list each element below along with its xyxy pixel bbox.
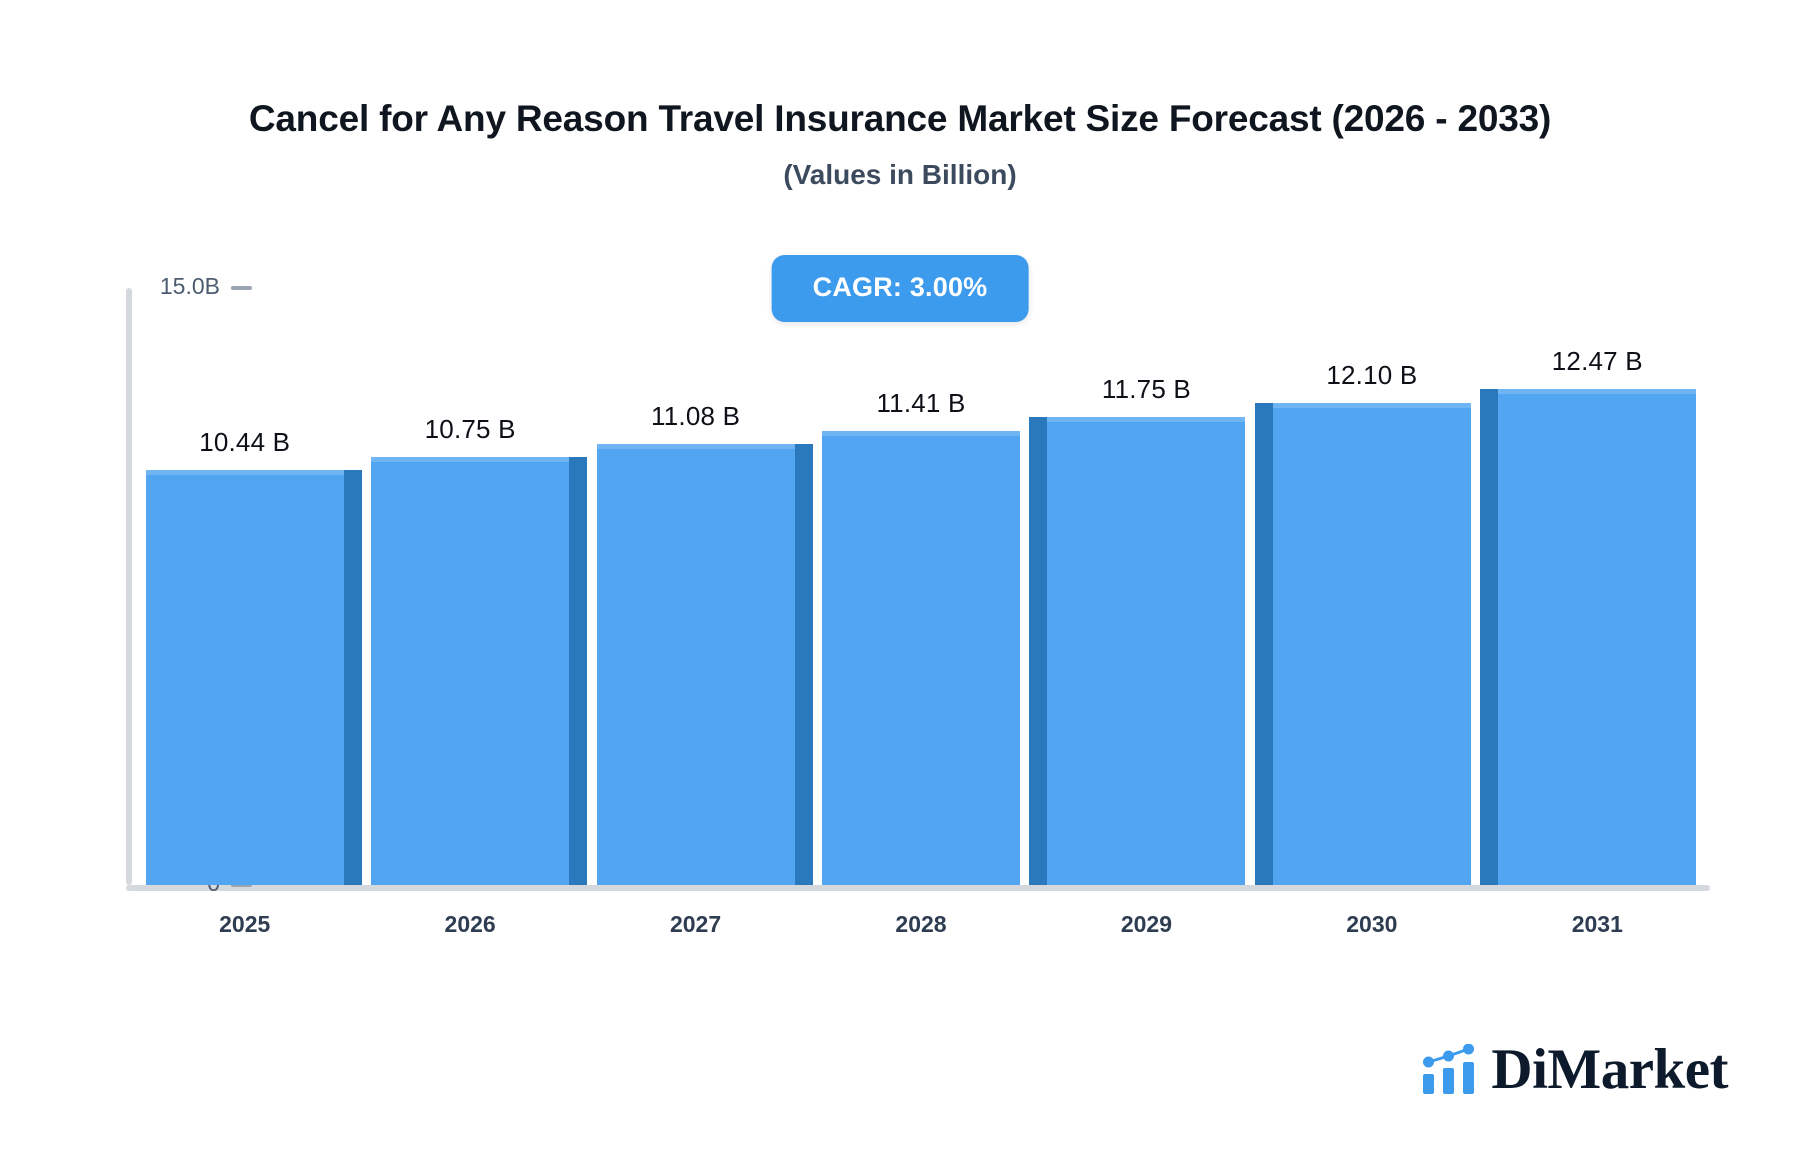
bar-value-label: 11.75 B bbox=[1102, 374, 1191, 405]
bar-value-label: 12.10 B bbox=[1326, 360, 1417, 391]
bar-side-face bbox=[569, 457, 587, 885]
bar[interactable]: 12.47 B bbox=[1498, 389, 1696, 885]
bar-face bbox=[597, 444, 795, 885]
x-axis-tick-label: 2030 bbox=[1346, 911, 1397, 938]
bar-face bbox=[1273, 403, 1471, 885]
brand-name: DiMarket bbox=[1491, 1041, 1728, 1098]
x-axis-tick-label: 2027 bbox=[670, 911, 721, 938]
bar-top-highlight bbox=[597, 444, 795, 449]
bar-group: 11.41 B2028 bbox=[822, 288, 1020, 885]
brand-logo: DiMarket bbox=[1421, 1041, 1728, 1098]
bar-group: 10.75 B2026 bbox=[371, 288, 569, 885]
bar-face bbox=[822, 431, 1020, 885]
bar-face bbox=[371, 457, 569, 885]
chart-header: Cancel for Any Reason Travel Insurance M… bbox=[0, 98, 1800, 191]
bar-face bbox=[1498, 389, 1696, 885]
chart-canvas: Cancel for Any Reason Travel Insurance M… bbox=[0, 0, 1800, 1156]
x-axis-tick-label: 2028 bbox=[895, 911, 946, 938]
bar[interactable]: 10.75 B bbox=[371, 457, 569, 885]
bar-side-face bbox=[1480, 389, 1498, 885]
bar-group: 12.10 B2030 bbox=[1273, 288, 1471, 885]
bar-chart-logo-icon bbox=[1421, 1044, 1477, 1096]
bar-top-highlight bbox=[1273, 403, 1471, 408]
bar-top-highlight bbox=[1498, 389, 1696, 394]
bar-face bbox=[146, 470, 344, 886]
bar-face bbox=[1047, 417, 1245, 885]
bar-top-highlight bbox=[146, 470, 344, 475]
x-axis-tick-label: 2026 bbox=[445, 911, 496, 938]
bar[interactable]: 11.08 B bbox=[597, 444, 795, 885]
bar[interactable]: 12.10 B bbox=[1273, 403, 1471, 885]
bars-group: 10.44 B202510.75 B202611.08 B202711.41 B… bbox=[132, 288, 1710, 885]
x-axis-tick-label: 2031 bbox=[1572, 911, 1623, 938]
bar-side-face bbox=[344, 470, 362, 886]
bar-value-label: 12.47 B bbox=[1552, 346, 1643, 377]
bar-side-face bbox=[1029, 417, 1047, 885]
bar[interactable]: 11.41 B bbox=[822, 431, 1020, 885]
bar-value-label: 10.75 B bbox=[425, 414, 516, 445]
bar-group: 11.08 B2027 bbox=[597, 288, 795, 885]
x-axis-tick-label: 2025 bbox=[219, 911, 270, 938]
bar-top-highlight bbox=[371, 457, 569, 462]
bar-value-label: 10.44 B bbox=[199, 427, 290, 458]
bar-value-label: 11.08 B bbox=[651, 401, 740, 432]
bar[interactable]: 11.75 B bbox=[1047, 417, 1245, 885]
bar-value-label: 11.41 B bbox=[876, 388, 965, 419]
bar[interactable]: 10.44 B bbox=[146, 470, 344, 886]
chart-subtitle: (Values in Billion) bbox=[0, 159, 1800, 191]
chart-title: Cancel for Any Reason Travel Insurance M… bbox=[0, 98, 1800, 141]
bar-group: 10.44 B2025 bbox=[146, 288, 344, 885]
x-axis-tick-label: 2029 bbox=[1121, 911, 1172, 938]
bar-top-highlight bbox=[822, 431, 1020, 436]
bar-top-highlight bbox=[1047, 417, 1245, 422]
bar-side-face bbox=[795, 444, 813, 885]
bar-group: 12.47 B2031 bbox=[1498, 288, 1696, 885]
bar-side-face bbox=[1255, 403, 1273, 885]
bar-group: 11.75 B2029 bbox=[1047, 288, 1245, 885]
x-axis-line bbox=[126, 885, 1710, 891]
